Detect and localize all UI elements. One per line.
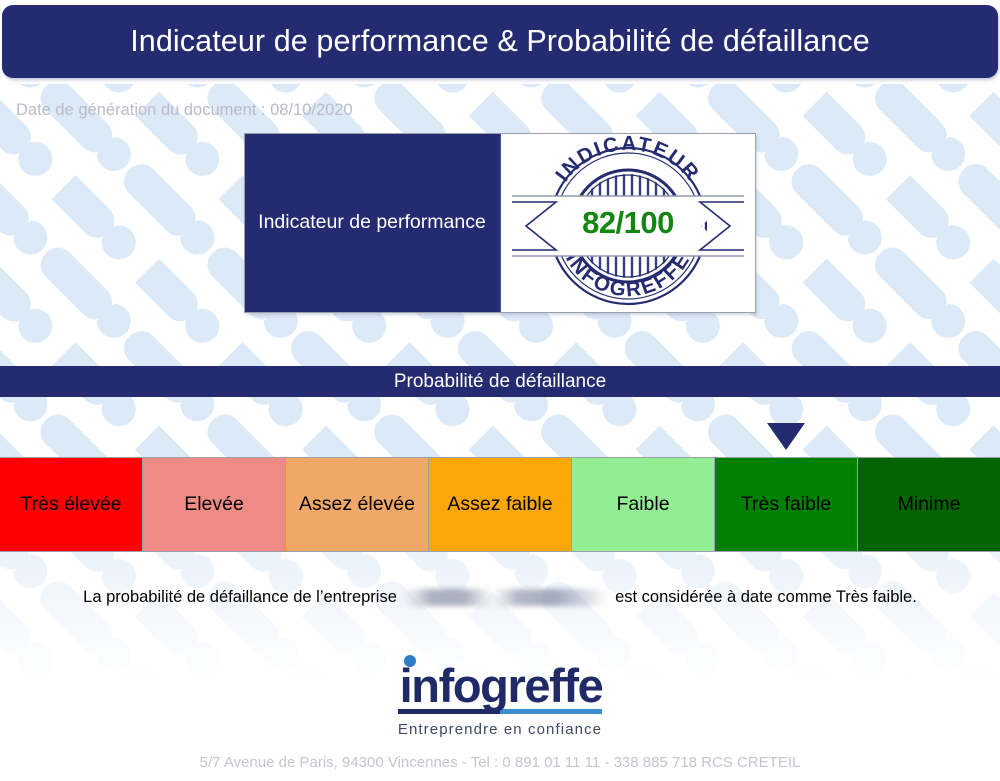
scale-pointer-marker (767, 423, 805, 450)
footer-address: 5/7 Avenue de Paris, 94300 Vincennes - T… (0, 754, 1000, 771)
conclusion-text-after: est considérée à date comme Très faible. (615, 588, 917, 606)
generation-date: Date de génération du document : 08/10/2… (16, 101, 353, 120)
performance-score: 82/100 (512, 205, 744, 241)
conclusion-text-before: La probabilité de défaillance de l’entre… (83, 588, 397, 606)
performance-indicator-label-box: Indicateur de performance (245, 134, 500, 312)
scale-segment-label: Assez élevée (299, 492, 415, 516)
page-title: Indicateur de performance & Probabilité … (130, 24, 870, 59)
infogreffe-stamp-badge: INDICATEUR INFOGREFFE 82/100 (512, 134, 744, 312)
redacted-company-name (403, 589, 608, 606)
performance-indicator-badge-box: INDICATEUR INFOGREFFE 82/100 (500, 134, 755, 312)
infogreffe-tagline: Entreprendre en confiance (398, 721, 603, 738)
scale-segment-assez-faible[interactable]: Assez faible (429, 458, 572, 551)
scale-segment-tres-faible[interactable]: Très faible (715, 458, 858, 551)
scale-segment-label: Minime (898, 492, 961, 516)
probability-section-header: Probabilité de défaillance (0, 366, 1000, 397)
svg-text:INDICATEUR: INDICATEUR (551, 134, 705, 186)
scale-segment-label: Très élevée (20, 492, 121, 516)
scale-segment-label: Assez faible (447, 492, 552, 516)
scale-segment-elevee[interactable]: Elevée (143, 458, 286, 551)
scale-segment-label: Faible (616, 492, 669, 516)
page-title-bar: Indicateur de performance & Probabilité … (2, 5, 998, 78)
probability-section-title: Probabilité de défaillance (394, 371, 606, 393)
scale-segment-tres-elevee[interactable]: Très élevée (0, 458, 143, 551)
performance-indicator-label: Indicateur de performance (258, 209, 486, 237)
infogreffe-wordmark-row: infogreffe (398, 663, 603, 708)
scale-segment-assez-elevee[interactable]: Assez élevée (286, 458, 429, 551)
scale-segment-label: Elevée (184, 492, 244, 516)
probability-conclusion: La probabilité de défaillance de l’entre… (0, 588, 1000, 607)
scale-segment-faible[interactable]: Faible (572, 458, 715, 551)
probability-scale: Très élevée Elevée Assez élevée Assez fa… (0, 457, 1000, 552)
stamp-top-text: INDICATEUR (551, 134, 705, 186)
performance-indicator-panel: Indicateur de performance (244, 133, 756, 313)
infogreffe-wordmark: infogreffe (400, 659, 603, 712)
scale-segment-minime[interactable]: Minime (858, 458, 1000, 551)
infogreffe-logo: infogreffe Entreprendre en confiance (0, 663, 1000, 739)
report-page: Indicateur de performance & Probabilité … (0, 0, 1000, 781)
triangle-down-icon (767, 423, 805, 450)
scale-segment-label: Très faible (741, 492, 831, 516)
logo-dot-icon (404, 655, 416, 667)
